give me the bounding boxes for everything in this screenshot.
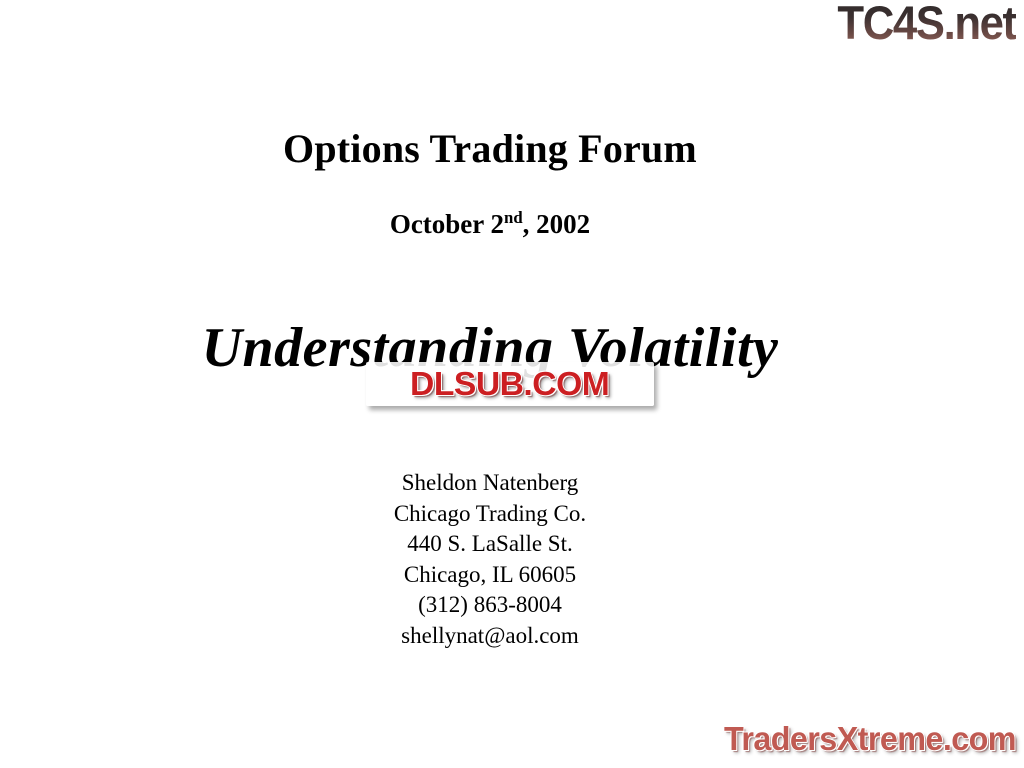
dlsub-watermark-text: DLSUB.COM — [410, 367, 609, 401]
tradersxtreme-watermark: TradersXtreme.com — [724, 720, 1016, 758]
contact-speaker-name: Sheldon Natenberg — [0, 468, 980, 499]
slide-canvas: TC4S.net Options Trading Forum October 2… — [0, 0, 1024, 768]
tc4s-watermark: TC4S.net — [838, 0, 1016, 48]
contact-street: 440 S. LaSalle St. — [0, 529, 980, 560]
contact-company: Chicago Trading Co. — [0, 499, 980, 530]
event-date-suffix: , 2002 — [523, 209, 591, 239]
contact-email: shellynat@aol.com — [0, 621, 980, 652]
event-title: Options Trading Forum — [0, 126, 980, 172]
dlsub-watermark: DLSUB.COM — [366, 362, 654, 406]
event-date-prefix: October 2 — [390, 209, 504, 239]
event-date: October 2nd, 2002 — [0, 172, 980, 240]
header-block: Options Trading Forum October 2nd, 2002 — [0, 126, 980, 240]
contact-phone: (312) 863-8004 — [0, 590, 980, 621]
event-date-ordinal-suffix: nd — [504, 208, 523, 227]
contact-block: Sheldon Natenberg Chicago Trading Co. 44… — [0, 468, 980, 651]
contact-city-state-zip: Chicago, IL 60605 — [0, 560, 980, 591]
